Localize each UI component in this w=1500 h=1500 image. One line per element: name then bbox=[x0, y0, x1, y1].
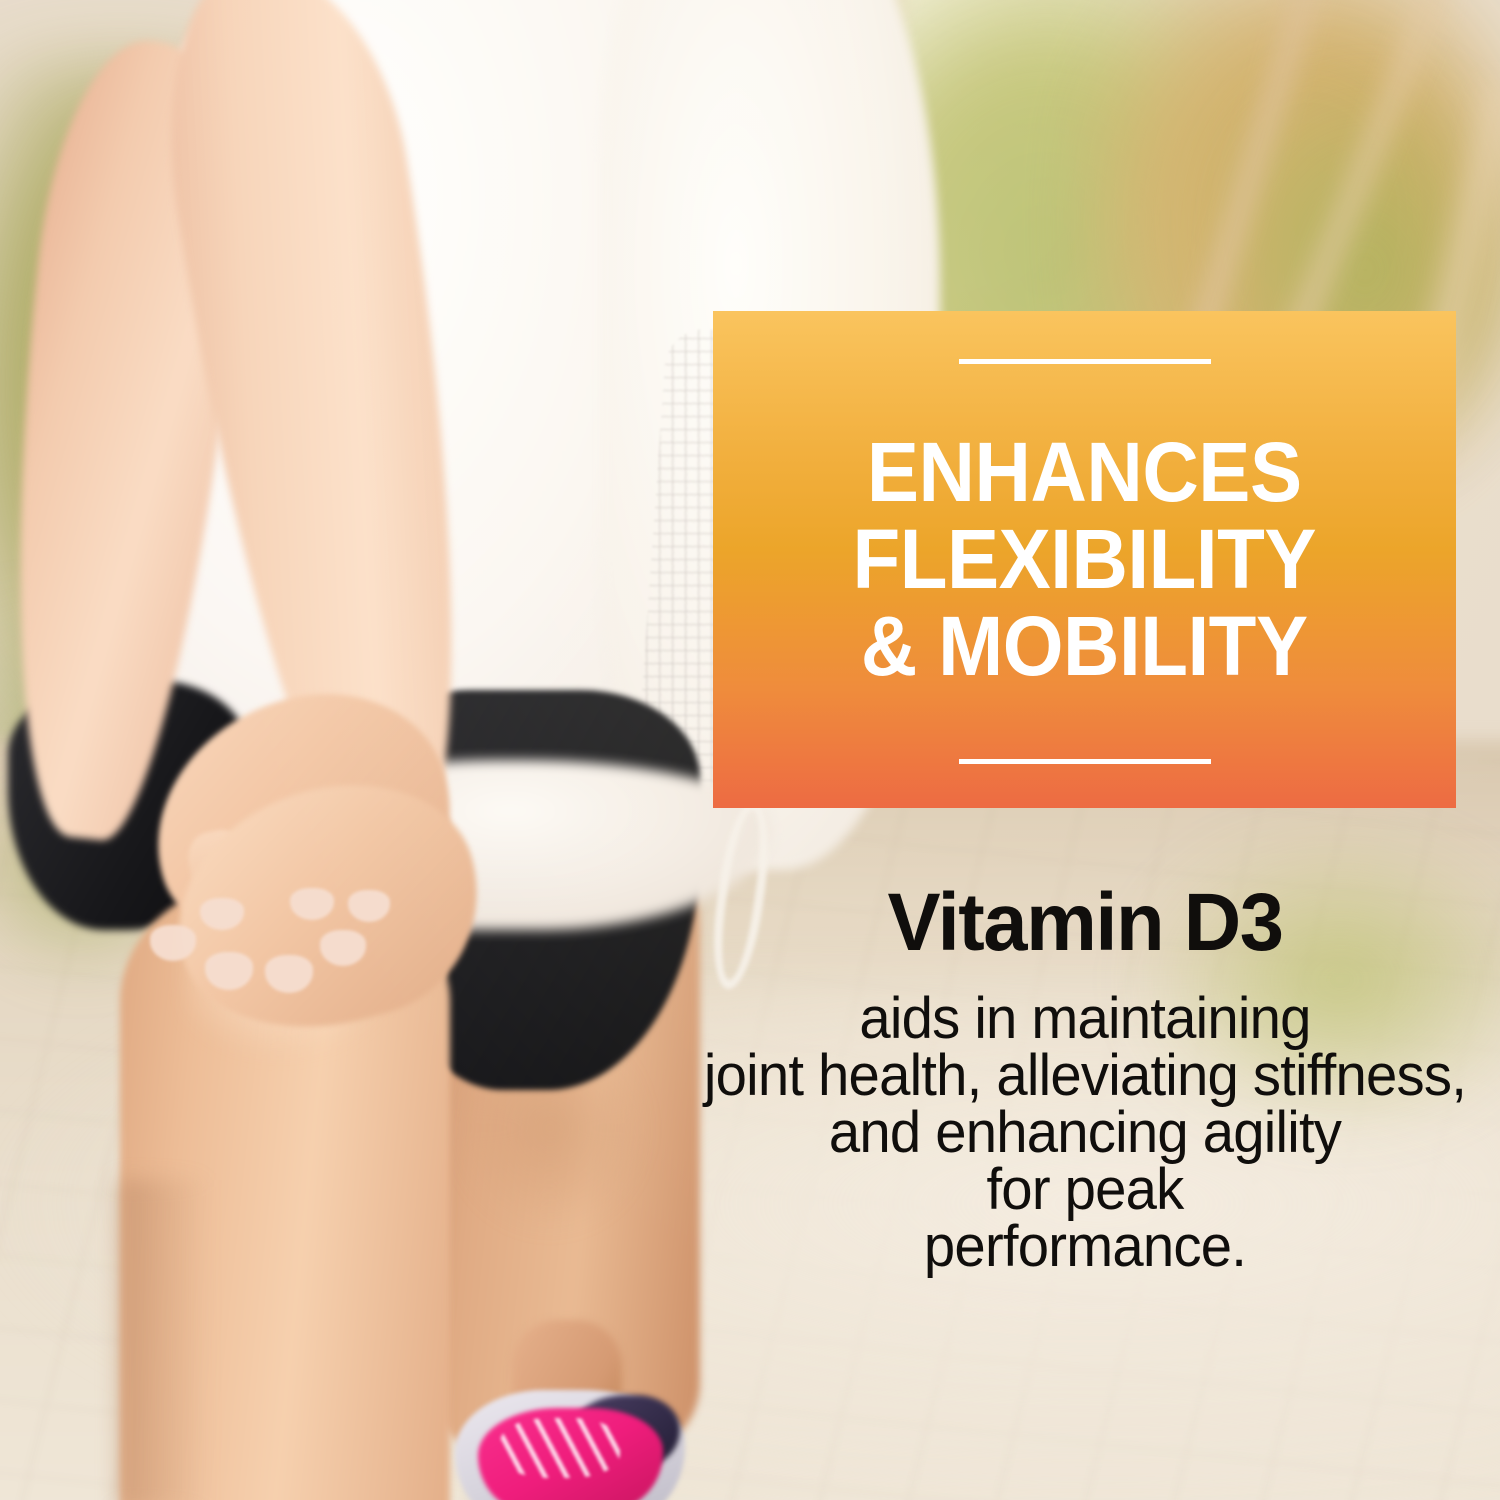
photo-front-leg-shadow bbox=[118, 1180, 208, 1500]
callout-top-divider bbox=[959, 359, 1211, 364]
callout-bottom-divider bbox=[959, 759, 1211, 764]
highlight-callout-card: ENHANCES FLEXIBILITY & MOBILITY bbox=[713, 311, 1456, 808]
nutrient-description: aids in maintaining joint health, allevi… bbox=[682, 990, 1487, 1275]
nutrient-name-heading: Vitamin D3 bbox=[682, 880, 1487, 966]
nutrient-info-block: Vitamin D3 aids in maintaining joint hea… bbox=[670, 880, 1500, 1275]
callout-headline: ENHANCES FLEXIBILITY & MOBILITY bbox=[853, 429, 1317, 690]
photo-shoe-laces bbox=[500, 1418, 620, 1478]
